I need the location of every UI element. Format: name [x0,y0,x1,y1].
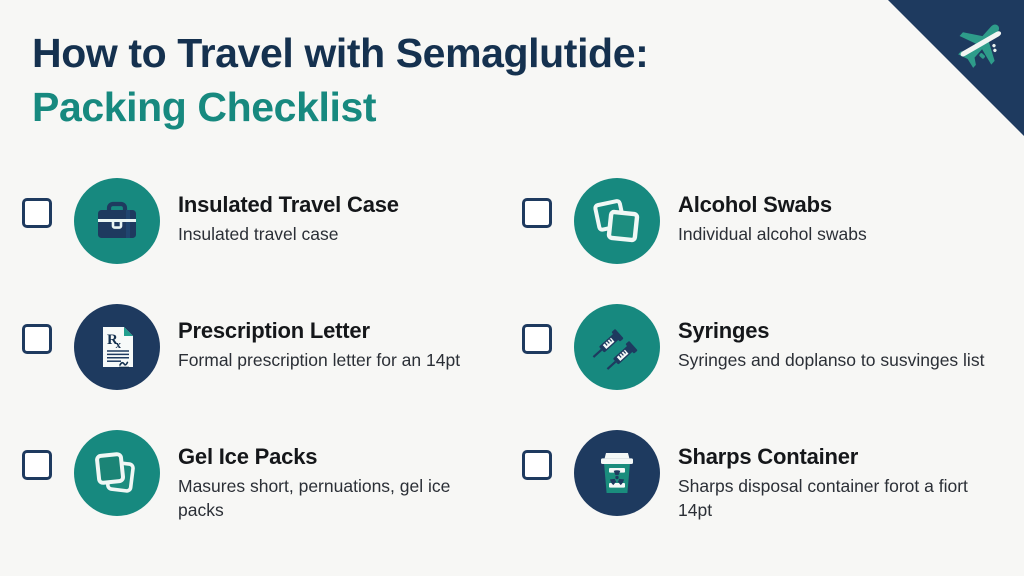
checkbox-gel-ice-packs[interactable] [22,450,52,480]
checklist-item-gel-ice-packs[interactable]: Gel Ice Packs Masures short, pernuations… [22,420,522,546]
item-title: Prescription Letter [178,318,460,344]
item-description: Individual alcohol swabs [678,223,867,246]
gel-ice-packs-icon [74,430,160,516]
page-title-line-2: Packing Checklist [32,80,912,134]
checkbox-sharps-container[interactable] [522,450,552,480]
checkbox-alcohol-swabs[interactable] [522,198,552,228]
item-description: Masures short, pernuations, gel ice pack… [178,475,478,522]
checkbox-syringes[interactable] [522,324,552,354]
svg-text:x: x [116,339,122,351]
airplane-icon [950,16,1012,78]
item-description: Syringes and doplanso to susvinges list [678,349,984,372]
page-header: How to Travel with Semaglutide: Packing … [32,26,912,134]
packing-checklist: Insulated Travel Case Insulated travel c… [22,168,1008,546]
item-title: Alcohol Swabs [678,192,867,218]
syringes-icon [574,304,660,390]
checklist-item-syringes[interactable]: Syringes Syringes and doplanso to susvin… [522,294,1008,420]
sharps-container-icon [574,430,660,516]
item-text: Prescription Letter Formal prescription … [178,304,460,373]
page-title-line-1: How to Travel with Semaglutide: [32,26,912,80]
prescription-document-icon: R x [74,304,160,390]
item-description: Sharps disposal container forot a fiort … [678,475,988,522]
item-description: Insulated travel case [178,223,399,246]
item-title: Syringes [678,318,984,344]
checklist-item-insulated-travel-case[interactable]: Insulated Travel Case Insulated travel c… [22,168,522,294]
checkbox-insulated-travel-case[interactable] [22,198,52,228]
item-text: Alcohol Swabs Individual alcohol swabs [678,178,867,247]
item-description: Formal prescription letter for an 14pt [178,349,460,372]
checkbox-prescription-letter[interactable] [22,324,52,354]
checklist-item-sharps-container[interactable]: Sharps Container Sharps disposal contain… [522,420,1008,546]
item-text: Insulated Travel Case Insulated travel c… [178,178,399,247]
item-title: Gel Ice Packs [178,444,478,470]
checklist-item-alcohol-swabs[interactable]: Alcohol Swabs Individual alcohol swabs [522,168,1008,294]
item-text: Gel Ice Packs Masures short, pernuations… [178,430,478,522]
item-text: Sharps Container Sharps disposal contain… [678,430,988,522]
item-text: Syringes Syringes and doplanso to susvin… [678,304,984,373]
checklist-item-prescription-letter[interactable]: R x Prescription Letter Formal prescript… [22,294,522,420]
swab-packets-icon [574,178,660,264]
briefcase-icon [74,178,160,264]
item-title: Insulated Travel Case [178,192,399,218]
item-title: Sharps Container [678,444,988,470]
